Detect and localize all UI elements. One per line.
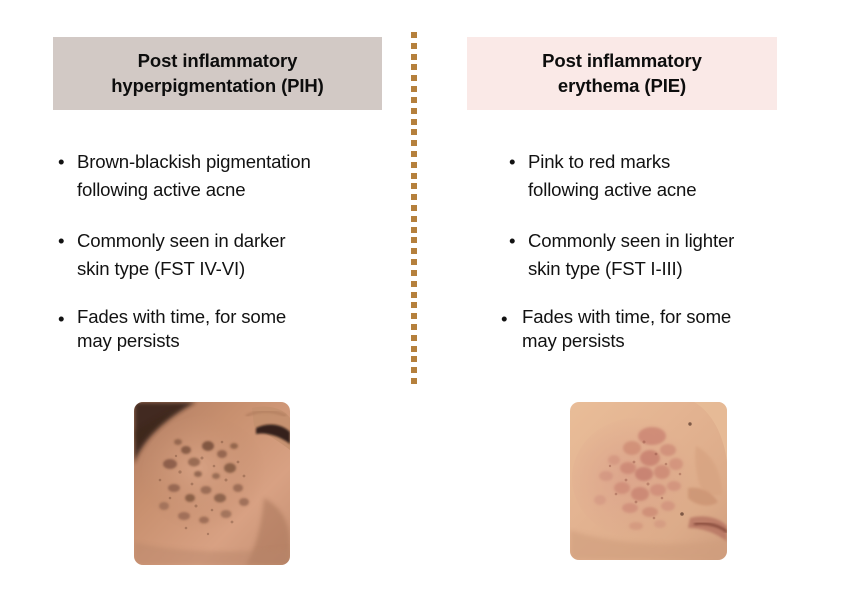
divider-dot — [411, 335, 417, 341]
divider-dot — [411, 183, 417, 189]
column-header-pie-title: Post inflammatory erythema (PIE) — [542, 49, 702, 98]
list-item-text: Fades with time, for some may persists — [77, 305, 392, 353]
divider-dot — [411, 151, 417, 157]
clinical-photo-pie — [570, 402, 727, 560]
bullet-marker-icon: • — [509, 148, 515, 176]
divider-dot — [411, 324, 417, 330]
list-item: • Brown-blackish pigmentation following … — [52, 148, 392, 205]
bullet-marker-icon: • — [58, 305, 64, 333]
list-item-text: Brown-blackish pigmentation following ac… — [77, 148, 392, 205]
bullet-marker-icon: • — [58, 148, 64, 176]
divider-dot — [411, 356, 417, 362]
list-item-text: Fades with time, for some may persists — [522, 305, 827, 353]
comparison-slide: Post inflammatory hyperpigmentation (PIH… — [0, 0, 846, 597]
dotted-vertical-divider-icon — [411, 32, 417, 384]
list-item: • Pink to red marks following active acn… — [497, 148, 827, 205]
divider-dot — [411, 205, 417, 211]
divider-dot — [411, 86, 417, 92]
divider-dot — [411, 194, 417, 200]
divider-dot — [411, 32, 417, 38]
clinical-photo-pih — [134, 402, 290, 565]
bullet-list-pie: • Pink to red marks following active acn… — [497, 148, 827, 353]
divider-dot — [411, 129, 417, 135]
column-header-pie: Post inflammatory erythema (PIE) — [467, 37, 777, 110]
list-item-text: Pink to red marks following active acne — [528, 148, 827, 205]
list-item: • Commonly seen in darker skin type (FST… — [52, 227, 392, 284]
bullet-list-pih: • Brown-blackish pigmentation following … — [52, 148, 392, 353]
divider-dot — [411, 75, 417, 81]
divider-dot — [411, 108, 417, 114]
divider-dot — [411, 140, 417, 146]
list-item-text: Commonly seen in darker skin type (FST I… — [77, 227, 392, 284]
divider-dot — [411, 259, 417, 265]
list-item: • Commonly seen in lighter skin type (FS… — [497, 227, 827, 284]
divider-dot — [411, 237, 417, 243]
divider-dot — [411, 378, 417, 384]
divider-dot — [411, 270, 417, 276]
divider-dot — [411, 248, 417, 254]
divider-dot — [411, 162, 417, 168]
bullet-marker-icon: • — [501, 305, 507, 333]
divider-dot — [411, 216, 417, 222]
divider-dot — [411, 54, 417, 60]
bullet-marker-icon: • — [509, 227, 515, 255]
list-item: • Fades with time, for some may persists — [52, 305, 392, 353]
divider-dot — [411, 227, 417, 233]
divider-dot — [411, 64, 417, 70]
bullet-marker-icon: • — [58, 227, 64, 255]
divider-dot — [411, 173, 417, 179]
divider-dot — [411, 367, 417, 373]
divider-dot — [411, 313, 417, 319]
divider-dot — [411, 346, 417, 352]
list-item: • Fades with time, for some may persists — [497, 305, 827, 353]
column-header-pih: Post inflammatory hyperpigmentation (PIH… — [53, 37, 382, 110]
divider-dot — [411, 43, 417, 49]
divider-dot — [411, 292, 417, 298]
divider-dot — [411, 119, 417, 125]
column-header-pih-title: Post inflammatory hyperpigmentation (PIH… — [111, 49, 324, 98]
divider-dot — [411, 97, 417, 103]
divider-dot — [411, 302, 417, 308]
divider-dot — [411, 281, 417, 287]
list-item-text: Commonly seen in lighter skin type (FST … — [528, 227, 827, 284]
